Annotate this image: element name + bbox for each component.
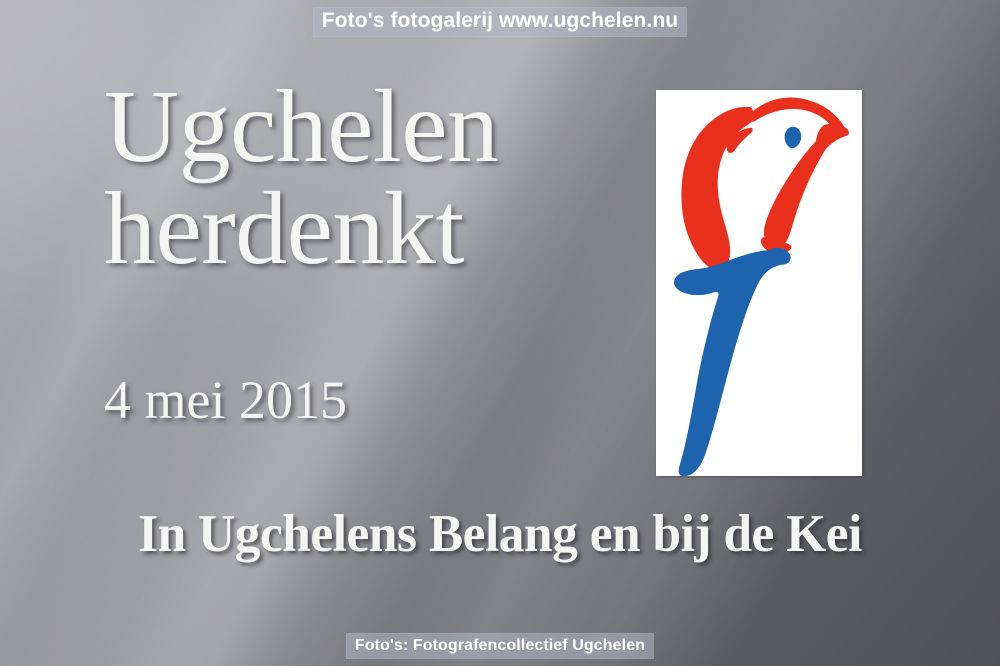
event-subtitle: In Ugchelens Belang en bij de Kei — [15, 508, 985, 561]
poster-canvas: Foto's fotogalerij www.ugchelen.nu Ugche… — [0, 0, 1000, 666]
bottom-caption-banner: Foto's: Fotografencollectief Ugchelen — [346, 633, 654, 659]
logo-panel — [656, 90, 862, 476]
headline-line-1: Ugchelen — [104, 69, 498, 184]
headline-line-2: herdenkt — [104, 178, 498, 280]
top-caption-banner: Foto's fotogalerij www.ugchelen.nu — [313, 7, 687, 37]
dove-logo-icon — [656, 90, 862, 476]
event-date: 4 mei 2015 — [104, 373, 347, 427]
page-title: Ugchelen herdenkt — [104, 76, 498, 280]
